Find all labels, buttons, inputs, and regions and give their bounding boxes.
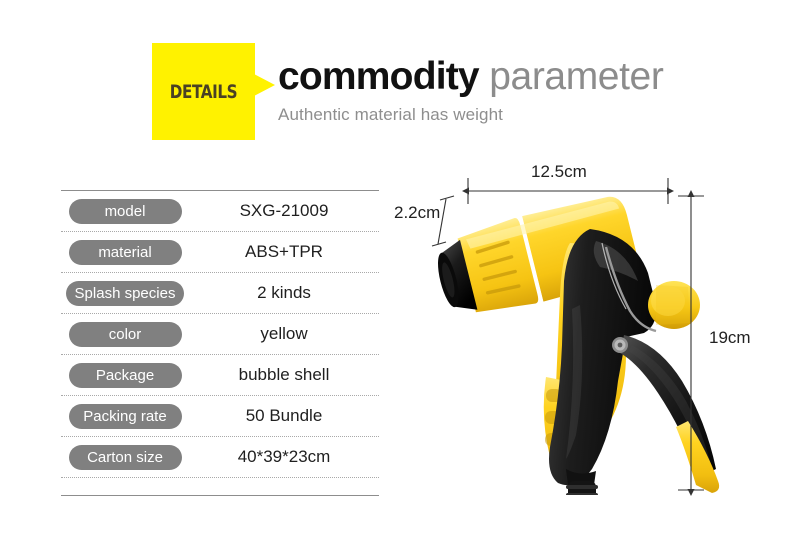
table-row: Carton size 40*39*23cm: [61, 437, 379, 477]
spec-label-model: model: [69, 199, 182, 224]
details-badge-label: DETAILS: [162, 43, 244, 140]
spec-value-color: yellow: [189, 324, 379, 344]
dimension-label-width: 12.5cm: [531, 162, 587, 182]
spec-label-cell: material: [61, 240, 189, 265]
spec-value-model: SXG-21009: [189, 201, 379, 221]
product-image-spray-gun: [420, 185, 730, 495]
spec-label-cell: model: [61, 199, 189, 224]
table-row: model SXG-21009: [61, 191, 379, 231]
spec-label-carton-size: Carton size: [69, 445, 182, 470]
spec-label-cell: Splash species: [61, 281, 189, 306]
pivot-screw: [612, 337, 628, 353]
table-row: Splash species 2 kinds: [61, 273, 379, 313]
table-row: material ABS+TPR: [61, 232, 379, 272]
page-title: commodity parameter Authentic material h…: [278, 54, 748, 126]
page-header: DETAILS commodity parameter Authentic ma…: [0, 0, 790, 150]
table-row: color yellow: [61, 314, 379, 354]
page-subtitle: Authentic material has weight: [278, 104, 748, 126]
spec-label-color: color: [69, 322, 182, 347]
table-row: Packing rate 50 Bundle: [61, 396, 379, 436]
dimension-label-nozzle: 2.2cm: [394, 203, 440, 223]
spec-label-cell: Package: [61, 363, 189, 388]
table-bottom-rule: [61, 495, 379, 496]
spec-label-packing-rate: Packing rate: [69, 404, 182, 429]
spec-value-splash-species: 2 kinds: [189, 283, 379, 303]
dimension-label-height: 19cm: [709, 328, 751, 348]
spec-label-package: Package: [69, 363, 182, 388]
spec-value-packing-rate: 50 Bundle: [189, 406, 379, 426]
table-row: Package bubble shell: [61, 355, 379, 395]
specification-table: model SXG-21009 material ABS+TPR Splash …: [61, 190, 379, 496]
spec-label-material: material: [69, 240, 182, 265]
details-badge-pointer-icon: [254, 74, 275, 96]
spec-label-splash-species: Splash species: [66, 281, 185, 306]
page-title-strong: commodity: [278, 55, 479, 98]
spec-label-cell: Packing rate: [61, 404, 189, 429]
page-title-line: commodity parameter: [278, 54, 748, 100]
spec-value-material: ABS+TPR: [189, 242, 379, 262]
spec-label-cell: Carton size: [61, 445, 189, 470]
spec-value-carton-size: 40*39*23cm: [189, 447, 379, 467]
details-badge: DETAILS: [152, 43, 255, 140]
page-title-light: parameter: [479, 55, 664, 98]
spec-label-cell: color: [61, 322, 189, 347]
spec-value-package: bubble shell: [189, 365, 379, 385]
adjustment-knob: [648, 281, 700, 329]
